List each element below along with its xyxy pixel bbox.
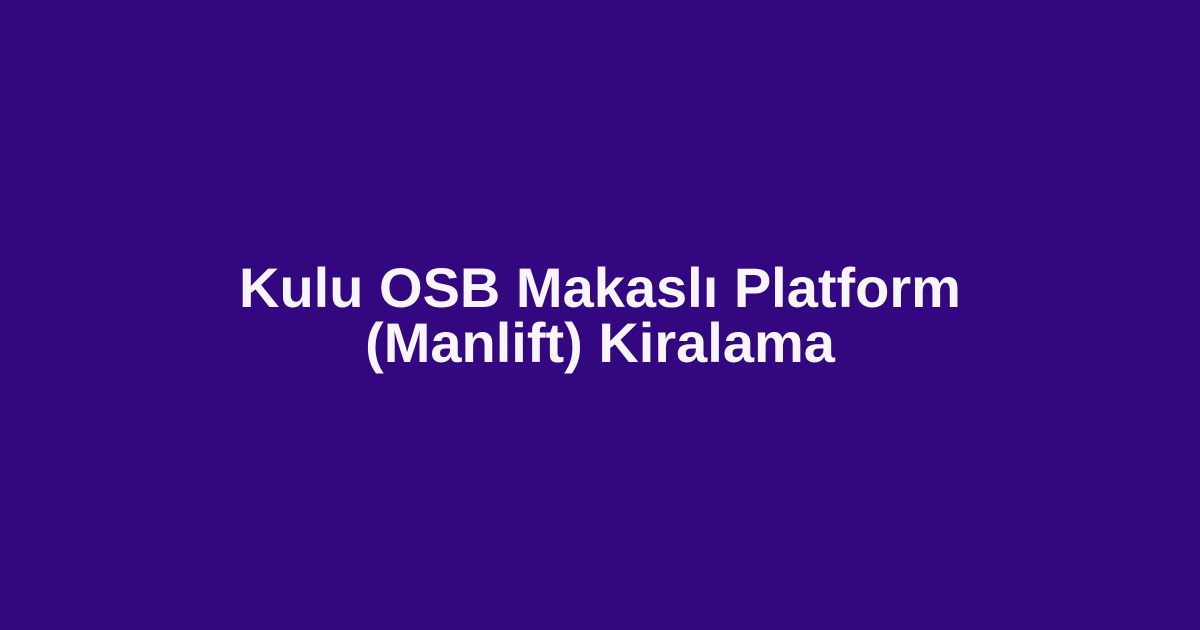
page-title: Kulu OSB Makaslı Platform (Manlift) Kira… [140,260,1060,370]
share-card: Kulu OSB Makaslı Platform (Manlift) Kira… [0,0,1200,630]
title-block: Kulu OSB Makaslı Platform (Manlift) Kira… [120,260,1080,370]
